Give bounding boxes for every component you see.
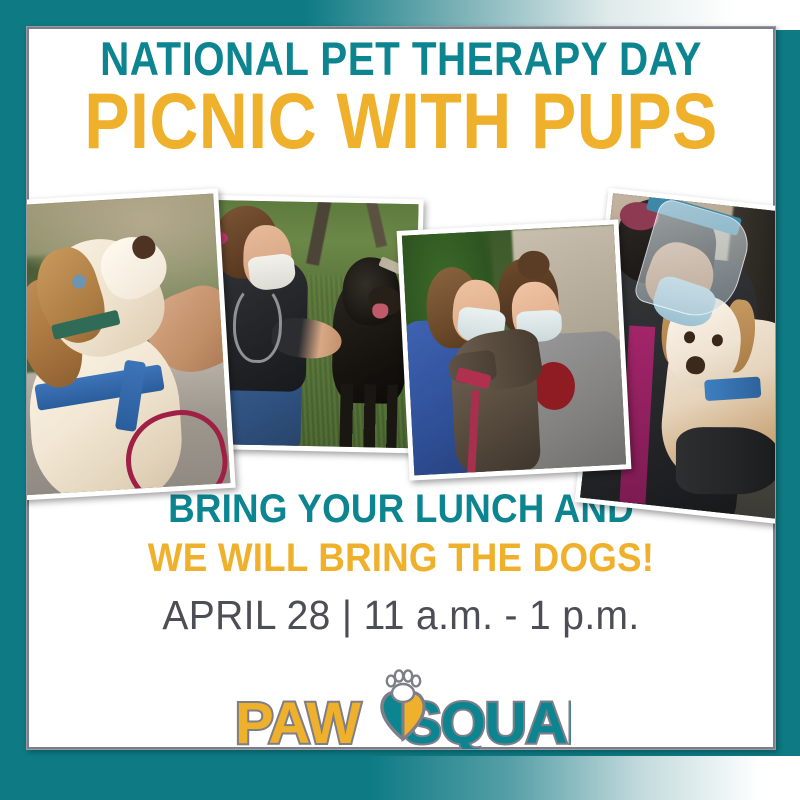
photo-two-women-with-greyhound xyxy=(397,219,632,480)
photo2-poodle-tongue xyxy=(373,303,389,318)
paw-squad-logo: PAW SQUAD xyxy=(27,667,775,750)
tagline-line-2: WE WILL BRING THE DOGS! xyxy=(57,536,745,581)
event-date-time: APRIL 28 | 11 a.m. - 1 p.m. xyxy=(46,591,757,640)
logo-word-squad: SQUAD xyxy=(403,691,571,750)
photo2-poodle-legs xyxy=(339,383,397,448)
poster-card: NATIONAL PET THERAPY DAY PICNIC WITH PUP… xyxy=(26,26,776,750)
photo1-dog-eye xyxy=(72,274,87,289)
poster: NATIONAL PET THERAPY DAY PICNIC WITH PUP… xyxy=(0,0,800,800)
paw-squad-logo-svg: PAW SQUAD xyxy=(231,667,571,750)
photo-dog-looking-up-image xyxy=(26,193,230,496)
background-gradient-bottom xyxy=(0,756,800,800)
photo-two-women-with-greyhound-image xyxy=(402,225,626,476)
photo-collage xyxy=(26,27,776,527)
photo-dog-looking-up xyxy=(26,188,236,502)
logo-word-paw: PAW xyxy=(235,691,361,750)
photo4-gloved-arm xyxy=(675,427,776,495)
